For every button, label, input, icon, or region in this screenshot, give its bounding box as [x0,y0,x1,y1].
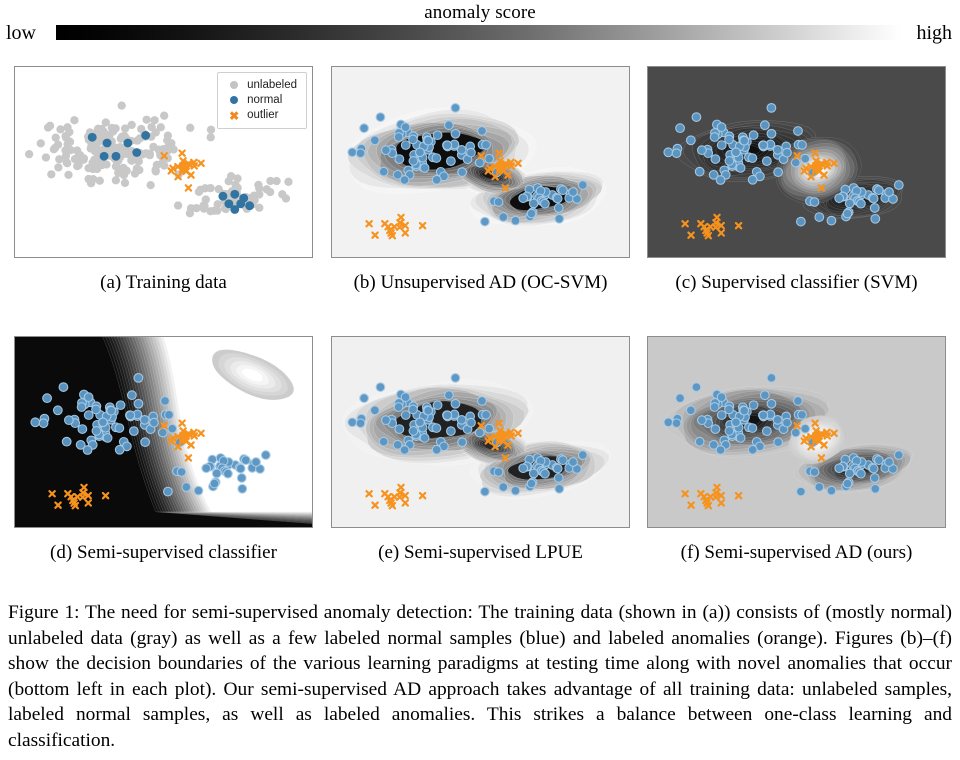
panel-d-plot [15,337,312,527]
panel-b-plot [332,67,629,257]
panel-c-supervised-classifier[interactable] [647,66,946,258]
legend-label-outlier: outlier [247,108,278,123]
normal-dot-icon [225,93,243,108]
panel-b-unsupervised-ad[interactable] [331,66,630,258]
legend-item-normal: normal [225,93,297,108]
colorbar-title: anomaly score [0,2,960,24]
panel-e-caption: (e) Semi-supervised LPUE [331,542,630,564]
panel-f-semi-supervised-ad[interactable] [647,336,946,528]
colorbar-low-label: low [6,22,36,45]
colorbar-gradient [56,25,901,40]
legend-label-unlabeled: unlabeled [247,78,297,93]
panel-d-semi-supervised-classifier[interactable] [14,336,313,528]
figure-caption: Figure 1: The need for semi-supervised a… [8,600,952,754]
panel-e-semi-supervised-lpue[interactable] [331,336,630,528]
colorbar-high-label: high [916,22,952,45]
legend-item-unlabeled: unlabeled [225,78,297,93]
panel-f-plot [648,337,945,527]
panel-c-plot [648,67,945,257]
panel-d-caption: (d) Semi-supervised classifier [14,542,313,564]
panel-a-training-data[interactable]: unlabeled normal ✖ outlier [14,66,313,258]
panel-c-caption: (c) Supervised classifier (SVM) [647,272,946,294]
outlier-x-icon: ✖ [225,110,243,122]
legend-item-outlier: ✖ outlier [225,108,297,123]
unlabeled-dot-icon [225,78,243,93]
panel-a-caption: (a) Training data [14,272,313,294]
legend: unlabeled normal ✖ outlier [217,72,307,129]
colorbar-area: anomaly score low high [0,0,960,52]
panel-b-caption: (b) Unsupervised AD (OC-SVM) [331,272,630,294]
panel-e-plot [332,337,629,527]
panel-f-caption: (f) Semi-supervised AD (ours) [647,542,946,564]
legend-label-normal: normal [247,93,282,108]
